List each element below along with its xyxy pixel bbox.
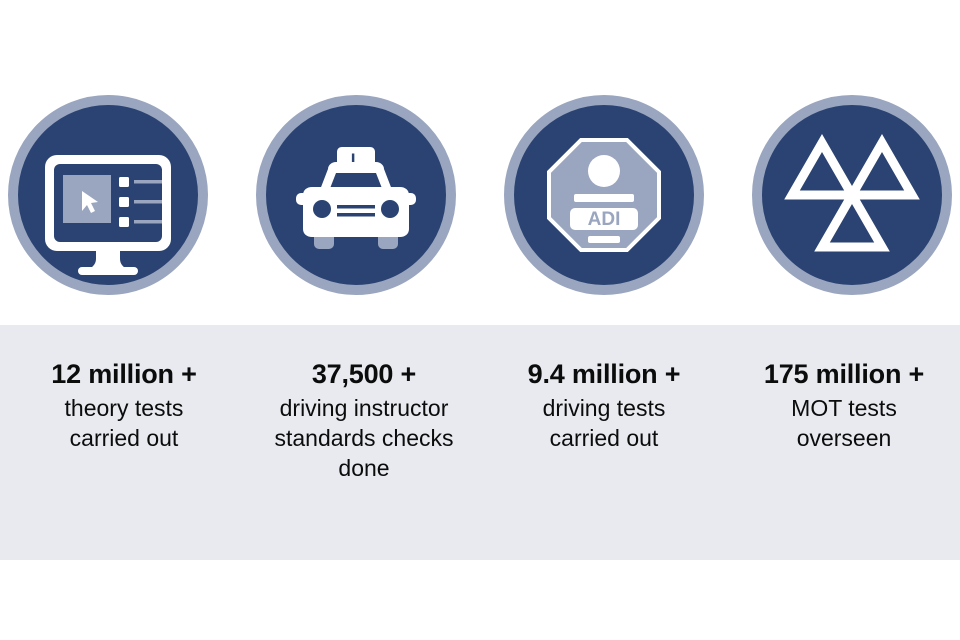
stat-description-line: MOT tests xyxy=(728,393,960,423)
stat-description-line: driving tests xyxy=(488,393,720,423)
stat-description-line: standards checks xyxy=(248,423,480,453)
icon-row: L xyxy=(0,95,960,295)
icon-cell-instructor-checks: L xyxy=(256,95,456,295)
stat-description-line: carried out xyxy=(488,423,720,453)
stat-description: driving instructor standards checks done xyxy=(248,393,480,483)
stat-value: 37,500 + xyxy=(248,357,480,391)
icon-cell-mot-tests xyxy=(752,95,952,295)
stat-description-line: overseen xyxy=(728,423,960,453)
stat-value: 9.4 million + xyxy=(488,357,720,391)
stat-description: driving tests carried out xyxy=(488,393,720,453)
stat-instructor-checks: 37,500 + driving instructor standards ch… xyxy=(248,357,480,560)
stat-theory-tests: 12 million + theory tests carried out xyxy=(8,357,240,560)
stat-description: theory tests carried out xyxy=(8,393,240,453)
stat-value: 175 million + xyxy=(728,357,960,391)
icon-cell-driving-tests: ADI xyxy=(504,95,704,295)
stat-driving-tests: 9.4 million + driving tests carried out xyxy=(488,357,720,560)
stat-value: 12 million + xyxy=(8,357,240,391)
computer-monitor-icon xyxy=(8,95,208,295)
mot-triangles-icon xyxy=(752,95,952,295)
adi-badge-label: ADI xyxy=(588,209,621,230)
stats-band: 12 million + theory tests carried out 37… xyxy=(0,325,960,560)
stat-description-line: carried out xyxy=(8,423,240,453)
stat-description: MOT tests overseen xyxy=(728,393,960,453)
stat-description-line: driving instructor xyxy=(248,393,480,423)
stat-description-line: done xyxy=(248,453,480,483)
icon-band: L xyxy=(0,0,960,325)
stat-mot-tests: 175 million + MOT tests overseen xyxy=(728,357,960,560)
icon-cell-theory-tests xyxy=(8,95,208,295)
bottom-whitespace xyxy=(0,560,960,640)
stat-description-line: theory tests xyxy=(8,393,240,423)
infographic-root: L xyxy=(0,0,960,640)
learner-car-icon: L xyxy=(256,95,456,295)
adi-badge-icon: ADI xyxy=(504,95,704,295)
stats-row: 12 million + theory tests carried out 37… xyxy=(0,325,960,560)
